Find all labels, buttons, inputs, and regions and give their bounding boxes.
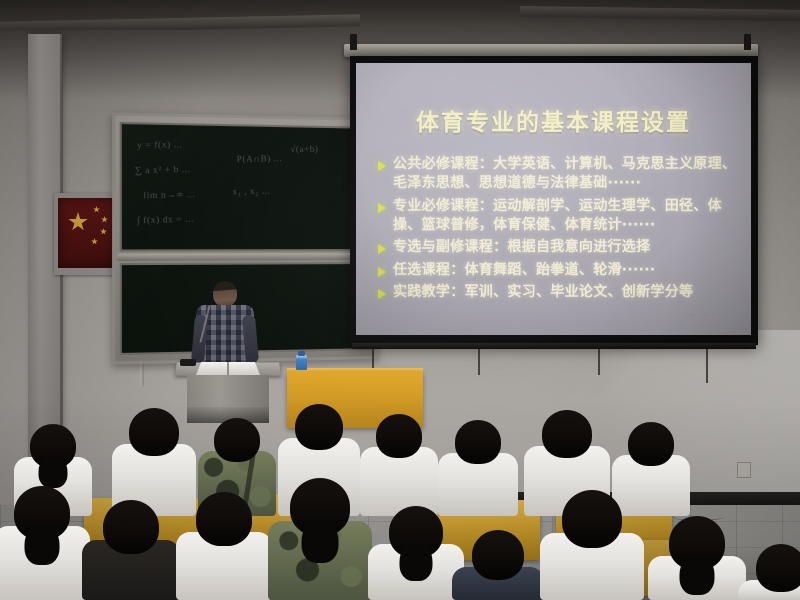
screen-cord-3 [598,349,600,375]
flag-star-large [68,212,88,232]
lecturer-head [213,281,237,307]
chalk-writing: √(a+b) [290,144,318,155]
flag-star-2 [101,216,108,223]
student-head [103,500,159,554]
bullet-triangle-icon [378,161,386,171]
student-head [376,414,422,458]
screen-cord-4 [706,349,708,383]
student-ponytail [680,554,715,595]
chalk-writing: P(A∩B) ... [236,153,282,164]
student-head [129,408,179,456]
student-head [562,490,622,548]
bullet-triangle-icon [378,244,386,254]
student-head [628,422,674,466]
slide-bullet-text: 任选课程：体育舞蹈、跆拳道、轮滑······ [393,261,656,280]
slide-bullet-text: 公共必修课程：大学英语、计算机、马克思主义原理、毛泽东思想、思想道德与法律基础·… [393,155,739,194]
ceiling-beam-right [520,6,800,21]
flag-star-4 [91,238,98,245]
flag-star-3 [100,228,107,235]
screen-cord-2 [478,349,480,375]
student-ponytail [25,524,60,565]
chalk-writing: ∑ a x² + b ... [135,164,191,176]
chalk-writing: lim n→∞ ... [143,189,195,201]
student-head [295,404,343,450]
student-head [196,492,252,546]
slide-surface: 体育专业的基本课程设置 公共必修课程：大学英语、计算机、马克思主义原理、毛泽东思… [356,63,751,335]
power-outlet-icon [737,462,751,478]
student [540,490,644,600]
student-head [214,418,260,462]
slide-bullet: 任选课程：体育舞蹈、跆拳道、轮滑······ [378,261,739,280]
student [368,506,464,600]
chalk-writing: y = f(x) ... [137,139,183,150]
slide-bullet: 实践教学：军训、实习、毕业论文、创新学分等 [378,283,739,302]
slide-bullet-text: 专业必修课程：运动解剖学、运动生理学、田径、体操、篮球普修，体育保健、体育统计·… [393,197,739,236]
slide-watermark: · · · [691,311,725,321]
student [0,486,90,600]
slide-title: 体育专业的基本课程设置 [356,103,751,137]
student-head [455,420,501,464]
student [738,544,800,600]
slide-bullet-list: 公共必修课程：大学英语、计算机、马克思主义原理、毛泽东思想、思想道德与法律基础·… [378,155,739,305]
classroom-photo: y = f(x) ...∑ a x² + b ...lim n→∞ ...∫ f… [0,0,800,600]
student [82,500,180,600]
slide-bullet: 专选与副修课程：根据自我意向进行选择 [378,238,739,257]
ceiling [0,0,800,34]
student-head [542,410,592,458]
student [648,516,746,600]
student-ponytail [39,455,68,488]
lecturer [196,281,254,371]
screen-bracket-left [350,34,357,50]
student [268,478,372,600]
bullet-triangle-icon [378,203,386,213]
screen-bracket-right [744,34,751,50]
podium-dark-object [180,359,196,366]
student-ponytail [400,542,433,581]
chalk-writing: x₁ , x₂ ... [232,185,270,196]
slide-bullet: 专业必修课程：运动解剖学、运动生理学、田径、体操、篮球普修，体育保健、体育统计·… [378,197,739,236]
slide-bullet-text: 专选与副修课程：根据自我意向进行选择 [393,238,650,257]
student-head [756,544,800,592]
water-bottle-cap [298,351,305,356]
blackboard-upper-panel: y = f(x) ...∑ a x² + b ...lim n→∞ ...∫ f… [120,122,371,252]
student-ponytail [302,519,339,563]
student [452,530,544,600]
projection-screen: 体育专业的基本课程设置 公共必修课程：大学英语、计算机、马克思主义原理、毛泽东思… [350,56,758,345]
chalk-writing: ∫ f(x) dx = ... [137,213,194,225]
water-bottle [296,355,307,370]
student [438,420,518,516]
slide-bullet: 公共必修课程：大学英语、计算机、马克思主义原理、毛泽东思想、思想道德与法律基础·… [378,155,739,194]
flag-star-1 [93,206,100,213]
book-spine [227,362,229,375]
screen-bottom-bar [352,343,756,349]
bullet-triangle-icon [378,267,386,277]
slide-bullet-text: 实践教学：军训、实习、毕业论文、创新学分等 [393,283,693,302]
student [176,492,272,600]
student-head [472,530,524,580]
bullet-triangle-icon [378,289,386,299]
chalk-tray [117,253,373,261]
